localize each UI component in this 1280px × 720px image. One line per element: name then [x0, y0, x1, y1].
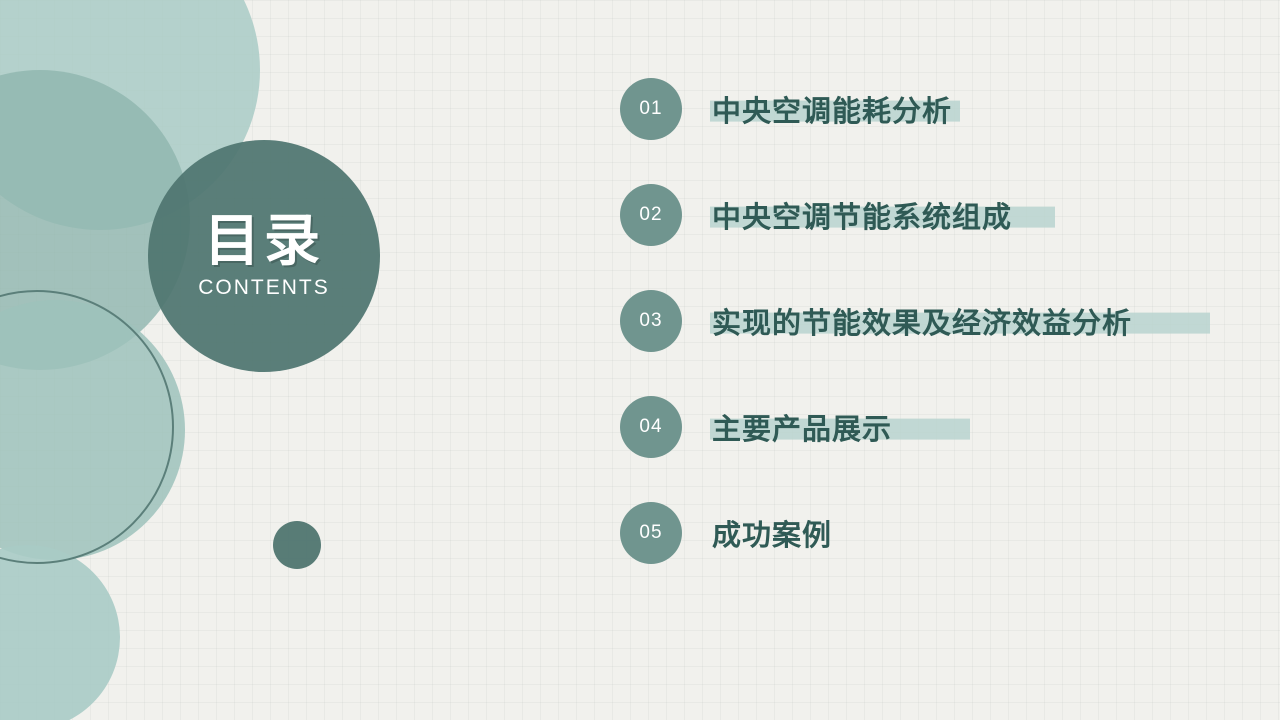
list-item-label: 中央空调节能系统组成: [712, 202, 1012, 234]
page-title: 目录: [204, 212, 324, 271]
slide-canvas: 目录 CONTENTS 01 中央空调能耗分析 02 中央空调节能系统组成 03…: [0, 0, 1280, 720]
list-item-number: 01: [620, 78, 682, 140]
list-item-text[interactable]: 成功案例: [710, 510, 840, 556]
decorative-circle-bottom-light: [0, 545, 120, 720]
list-item-label: 实现的节能效果及经济效益分析: [712, 308, 1132, 340]
list-item-label: 主要产品展示: [712, 414, 892, 446]
list-item-text[interactable]: 中央空调节能系统组成: [710, 192, 1020, 238]
title-block: 目录 CONTENTS: [148, 140, 380, 372]
list-item-text[interactable]: 实现的节能效果及经济效益分析: [710, 298, 1140, 344]
list-item-number: 02: [620, 184, 682, 246]
list-item-text[interactable]: 主要产品展示: [710, 404, 900, 450]
list-item[interactable]: 01 中央空调能耗分析: [620, 78, 1270, 140]
list-item-label: 成功案例: [712, 520, 832, 552]
list-item-number: 05: [620, 502, 682, 564]
contents-list: 01 中央空调能耗分析 02 中央空调节能系统组成 03 实现的节能效果及经济效…: [620, 78, 1270, 608]
list-item-number: 03: [620, 290, 682, 352]
list-item[interactable]: 04 主要产品展示: [620, 396, 1270, 458]
decorative-dot: [273, 521, 321, 569]
page-subtitle: CONTENTS: [198, 276, 330, 300]
list-item[interactable]: 02 中央空调节能系统组成: [620, 184, 1270, 246]
list-item[interactable]: 03 实现的节能效果及经济效益分析: [620, 290, 1270, 352]
list-item-label: 中央空调能耗分析: [712, 96, 952, 128]
list-item[interactable]: 05 成功案例: [620, 502, 1270, 564]
list-item-text[interactable]: 中央空调能耗分析: [710, 86, 960, 132]
list-item-number: 04: [620, 396, 682, 458]
